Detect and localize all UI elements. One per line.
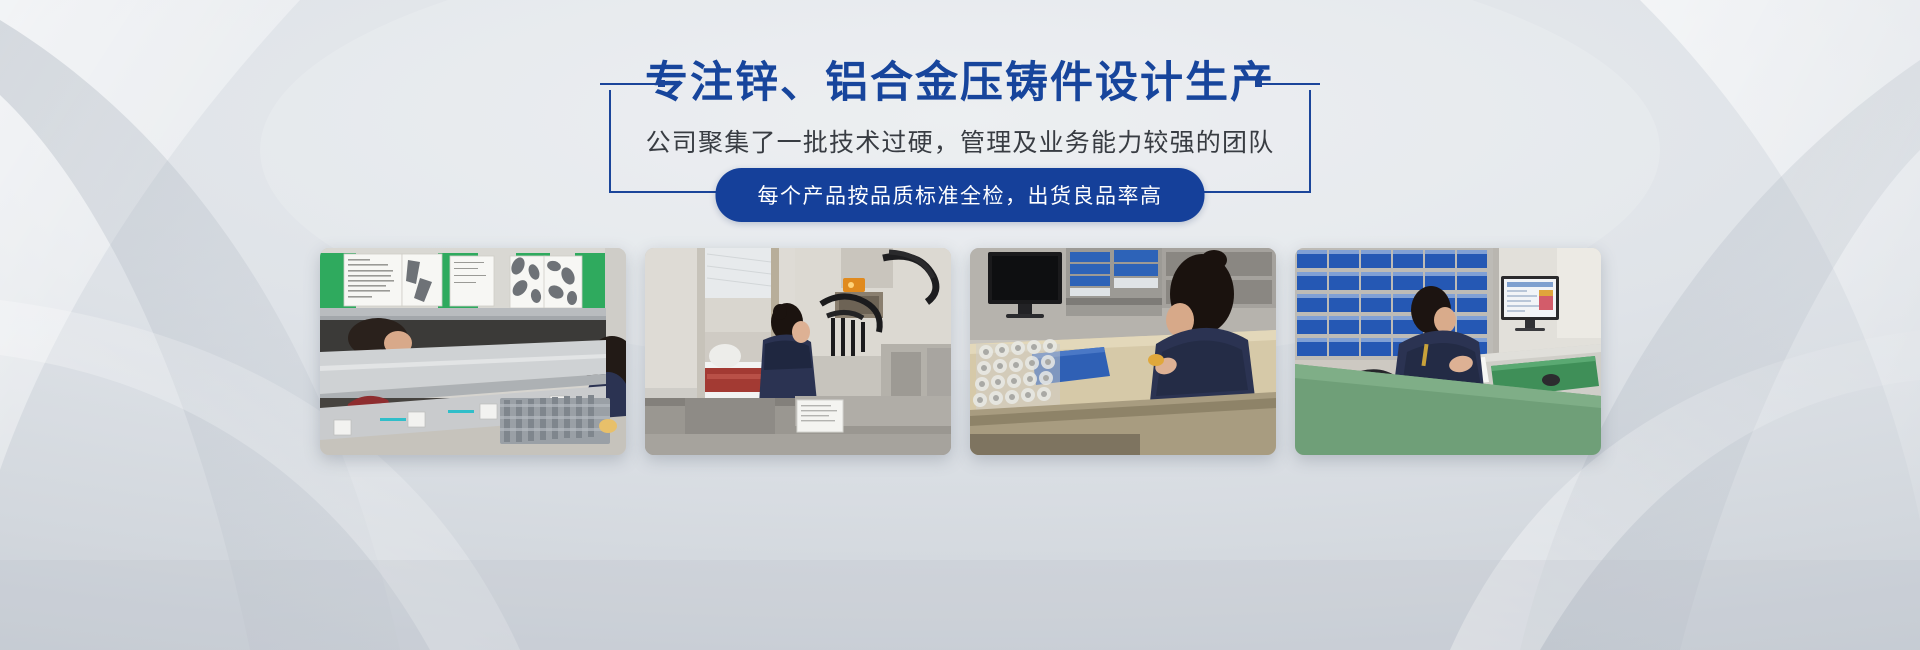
photo-office-data-entry (1295, 248, 1601, 455)
photo-card-packing-bench[interactable] (970, 248, 1276, 455)
bracket-left-line (600, 83, 658, 85)
hero-text-block: 专注锌、铝合金压铸件设计生产 公司聚集了一批技术过硬，管理及业务能力较强的团队 (0, 62, 1920, 159)
quality-badge: 每个产品按品质标准全检，出货良品率高 (716, 168, 1205, 222)
photo-card-inspection-line[interactable] (320, 248, 626, 455)
promo-banner: 专注锌、铝合金压铸件设计生产 公司聚集了一批技术过硬，管理及业务能力较强的团队 … (0, 0, 1920, 650)
photo-card-office-data-entry[interactable] (1295, 248, 1601, 455)
bracket-right-dot (1255, 80, 1262, 87)
page-title: 专注锌、铝合金压铸件设计生产 (623, 62, 1297, 105)
photo-card-die-casting-machine[interactable] (645, 248, 951, 455)
photo-die-casting-machine (645, 248, 951, 455)
headline-row: 专注锌、铝合金压铸件设计生产 (600, 62, 1320, 105)
bracket-left-dot (658, 80, 665, 87)
page-subtitle: 公司聚集了一批技术过硬，管理及业务能力较强的团队 (646, 123, 1275, 159)
bracket-right-line (1262, 83, 1320, 85)
photo-gallery (0, 248, 1920, 455)
photo-inspection-line (320, 248, 626, 455)
photo-packing-bench (970, 248, 1276, 455)
